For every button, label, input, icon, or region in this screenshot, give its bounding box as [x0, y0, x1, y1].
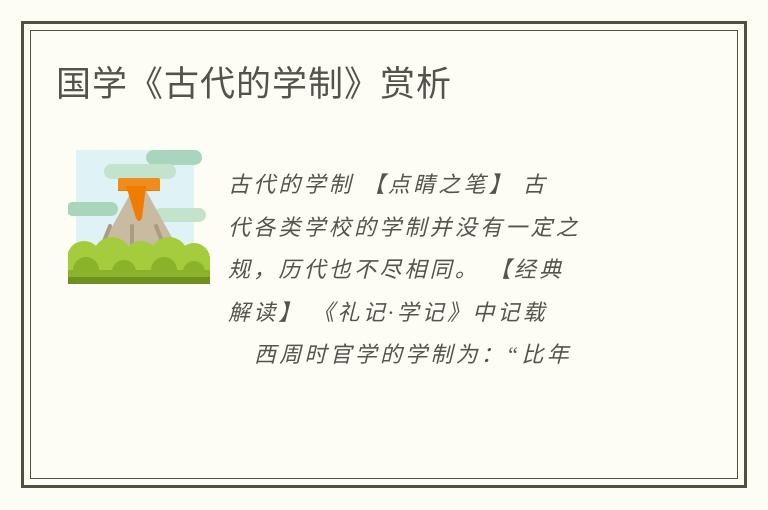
volcano-illustration	[68, 146, 210, 288]
cloud-upper	[104, 164, 176, 179]
article-line: 古代的学制 【点睛之笔】 古	[228, 164, 648, 207]
cloud-left	[68, 202, 118, 216]
page-root: 国学《古代的学制》赏析	[0, 0, 768, 510]
article-line: 规，历代也不尽相同。 【经典	[228, 249, 648, 292]
page-title: 国学《古代的学制》赏析	[56, 63, 452, 107]
article-line: 西周时官学的学制为：“比年	[228, 334, 648, 377]
article-line: 代各类学校的学制并没有一定之	[228, 207, 648, 250]
article-line: 解读】 《礼记·学记》中记载	[228, 292, 648, 335]
article-body: 古代的学制 【点睛之笔】 古 代各类学校的学制并没有一定之 规，历代也不尽相同。…	[228, 164, 648, 377]
ground-strip	[68, 277, 210, 284]
cloud-top-right	[146, 150, 202, 165]
